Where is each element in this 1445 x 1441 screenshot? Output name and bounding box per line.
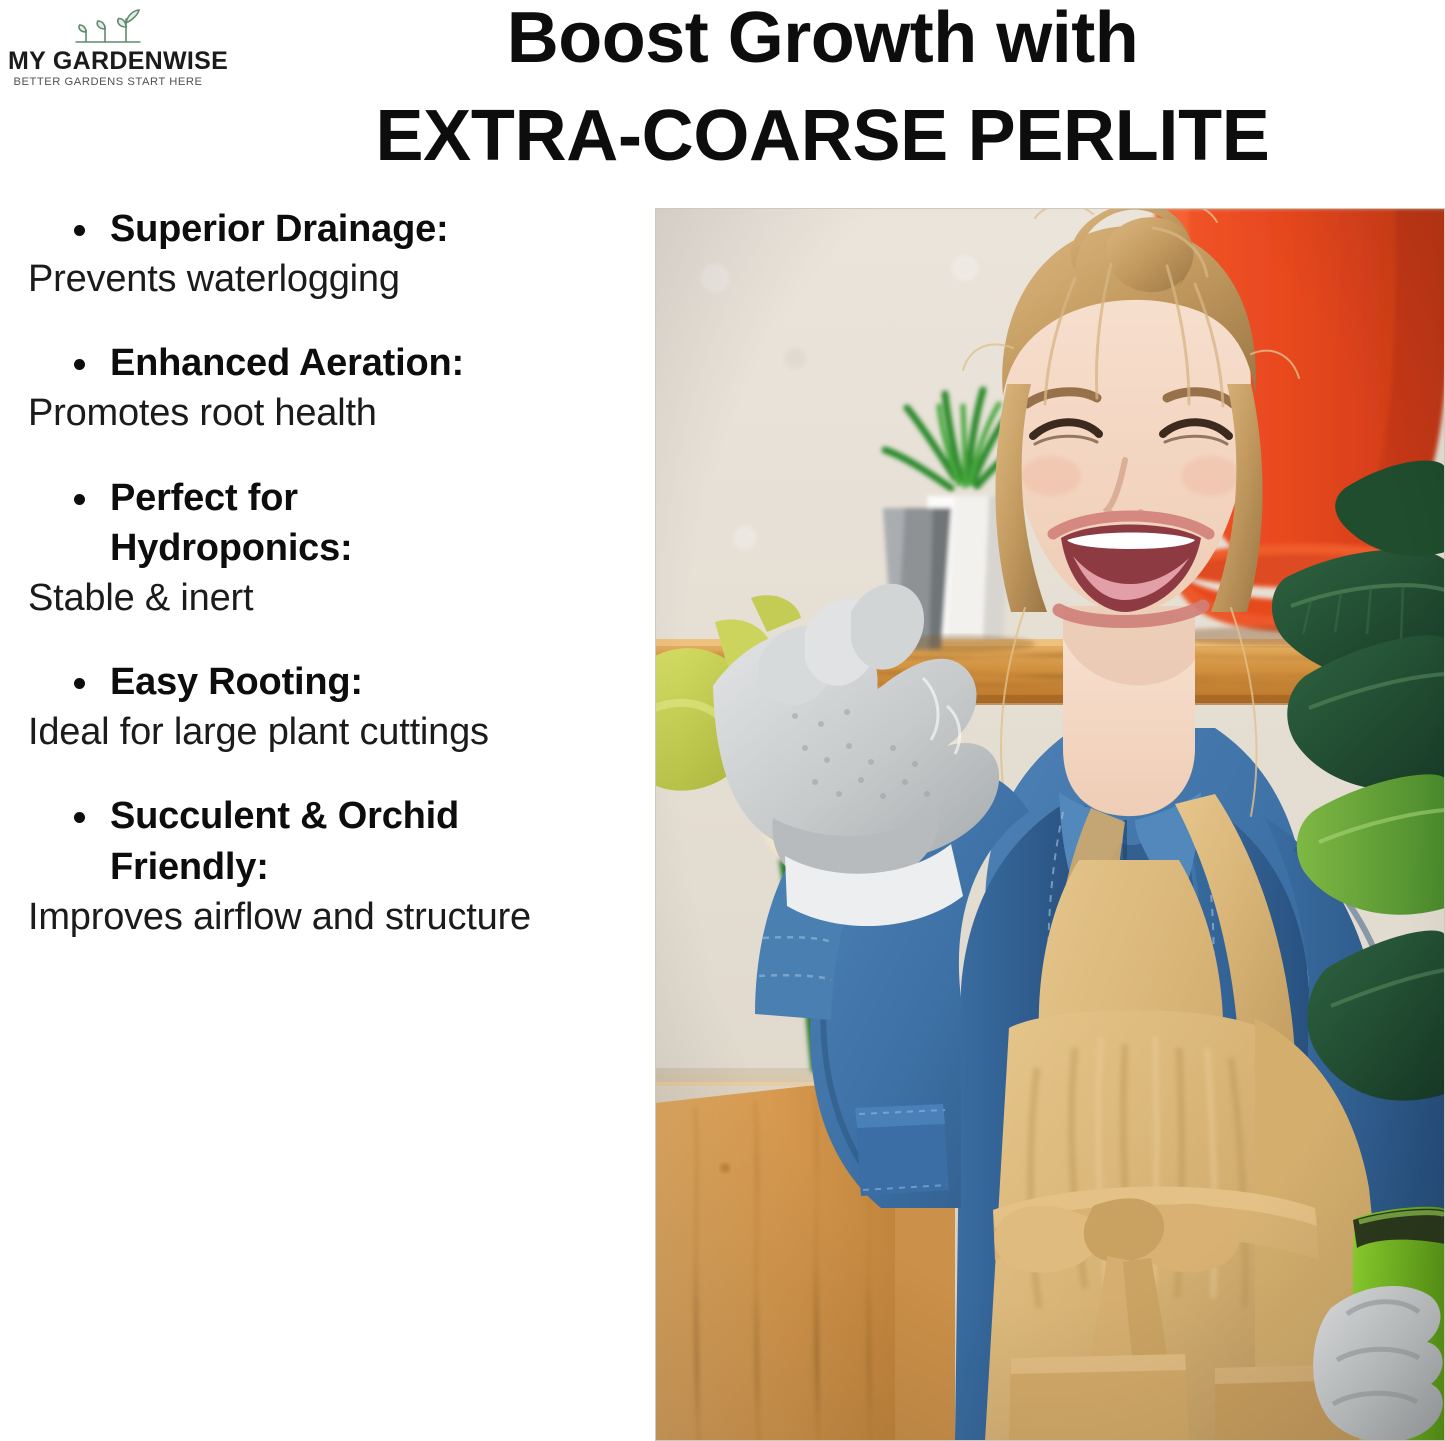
feature-heading: Easy Rooting: bbox=[0, 657, 640, 707]
bullet-icon bbox=[74, 359, 85, 370]
feature-heading: Succulent & Orchid Friendly: bbox=[0, 791, 640, 891]
product-lifestyle-photo bbox=[655, 208, 1445, 1441]
list-item: Superior Drainage: Prevents waterlogging bbox=[0, 204, 640, 304]
promo-infographic: MY GARDENWISE BETTER GARDENS START HERE … bbox=[0, 0, 1445, 1441]
feature-list: Superior Drainage: Prevents waterlogging… bbox=[0, 204, 640, 976]
feature-heading: Perfect for Hydroponics: bbox=[0, 473, 640, 573]
feature-body: Promotes root health bbox=[0, 388, 640, 438]
feature-heading-label: Succulent & Orchid Friendly: bbox=[110, 795, 459, 887]
three-sprouts-icon bbox=[60, 6, 156, 48]
bullet-icon bbox=[74, 225, 85, 236]
feature-heading-label: Enhanced Aeration: bbox=[110, 342, 464, 384]
list-item: Perfect for Hydroponics: Stable & inert bbox=[0, 473, 640, 623]
feature-body: Prevents waterlogging bbox=[0, 254, 640, 304]
bullet-icon bbox=[74, 678, 85, 689]
brand-tagline: BETTER GARDENS START HERE bbox=[8, 76, 208, 89]
bullet-icon bbox=[74, 494, 85, 505]
feature-heading-label: Superior Drainage: bbox=[110, 208, 448, 250]
brand-logo: MY GARDENWISE BETTER GARDENS START HERE bbox=[8, 6, 208, 90]
feature-body: Stable & inert bbox=[0, 573, 640, 623]
feature-heading: Superior Drainage: bbox=[0, 204, 640, 254]
headline-line-secondary: EXTRA-COARSE PERLITE bbox=[200, 74, 1445, 172]
page-title: Boost Growth with EXTRA-COARSE PERLITE bbox=[200, 0, 1445, 172]
headline-line-primary: Boost Growth with bbox=[200, 0, 1445, 74]
list-item: Succulent & Orchid Friendly: Improves ai… bbox=[0, 791, 640, 941]
list-item: Enhanced Aeration: Promotes root health bbox=[0, 338, 640, 438]
feature-heading-label: Perfect for Hydroponics: bbox=[110, 477, 353, 569]
feature-heading-label: Easy Rooting: bbox=[110, 661, 363, 703]
feature-body: Improves airflow and structure bbox=[0, 892, 640, 942]
list-item: Easy Rooting: Ideal for large plant cutt… bbox=[0, 657, 640, 757]
gardener-photo-illustration bbox=[655, 208, 1445, 1441]
feature-heading: Enhanced Aeration: bbox=[0, 338, 640, 388]
feature-body: Ideal for large plant cuttings bbox=[0, 707, 640, 757]
brand-wordmark: MY GARDENWISE bbox=[8, 48, 208, 74]
bullet-icon bbox=[74, 812, 85, 823]
